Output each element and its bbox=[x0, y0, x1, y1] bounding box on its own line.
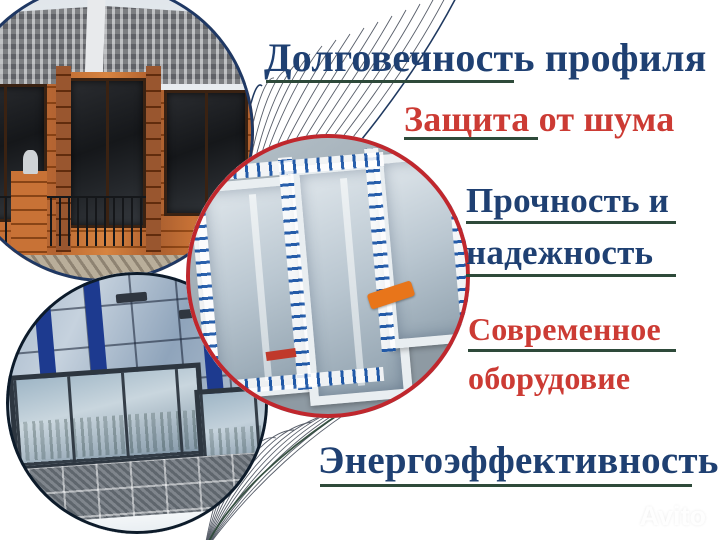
headline-reliability: надежность bbox=[466, 233, 653, 273]
pvc-windows-photo bbox=[186, 134, 470, 418]
headline-underline bbox=[404, 137, 538, 140]
glazing-bars bbox=[13, 368, 202, 467]
avito-wordmark: Avito bbox=[640, 503, 707, 530]
entry-pillar bbox=[11, 171, 47, 267]
avito-dots-icon bbox=[608, 504, 636, 530]
headline-equipment: оборудовие bbox=[468, 360, 630, 397]
advertisement-banner: Долговечность профиля Защита от шума Про… bbox=[0, 0, 720, 540]
wall-lamp bbox=[23, 150, 38, 174]
headline-underline bbox=[320, 484, 692, 487]
headline-underline bbox=[466, 274, 676, 277]
headline-durability: Долговечность профиля bbox=[264, 34, 706, 81]
corner-post bbox=[146, 66, 161, 252]
headline-modern: Современное bbox=[468, 311, 661, 348]
headline-energy-efficiency: Энергоэффективность bbox=[318, 438, 719, 483]
headline-underline bbox=[468, 349, 676, 352]
sash-divider bbox=[339, 178, 364, 386]
headline-underline bbox=[466, 221, 676, 224]
headline-underline bbox=[266, 80, 514, 83]
avito-watermark: Avito bbox=[608, 503, 707, 530]
headline-noise-protection: Защита от шума bbox=[404, 98, 674, 140]
windows-scene bbox=[186, 134, 470, 418]
headline-strength: Прочность и bbox=[466, 181, 669, 221]
panoramic-glazing bbox=[8, 362, 208, 472]
